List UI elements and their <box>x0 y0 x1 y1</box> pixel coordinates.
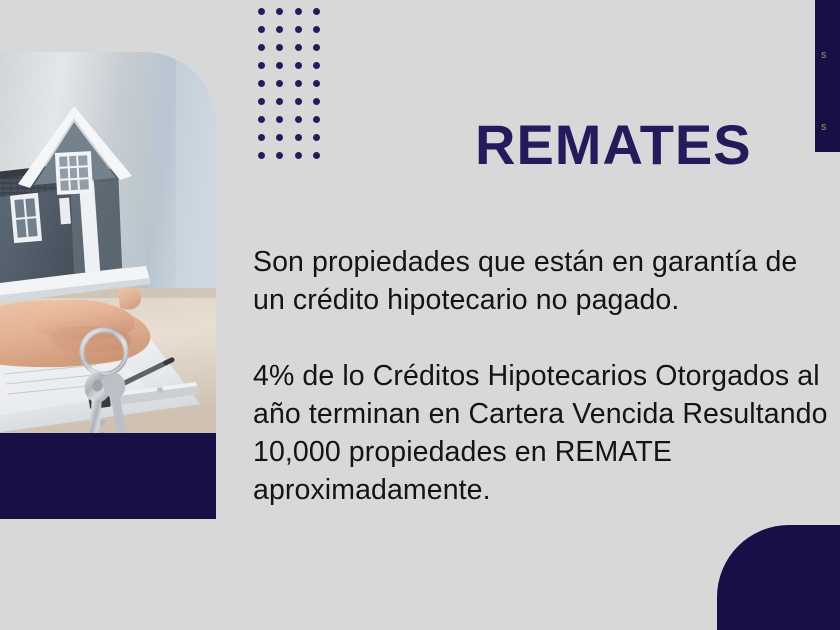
paragraph-line: 10,000 propiedades en REMATE <box>253 433 840 471</box>
paragraph-line: aproximadamente. <box>253 471 840 509</box>
paragraph-line: Son propiedades que están en garantía de <box>253 243 840 281</box>
body-text-block: Son propiedades que están en garantía de… <box>253 243 840 509</box>
navy-bar-left <box>0 433 216 519</box>
photo-artwork <box>0 52 216 433</box>
paragraph-line: 4% de lo Créditos Hipotecarios Otorgados… <box>253 357 840 395</box>
paragraph-line: año terminan en Cartera Vencida Resultan… <box>253 395 840 433</box>
page-title: REMATES <box>475 117 752 173</box>
house-in-hand-photo <box>0 52 216 433</box>
definition-paragraph: Son propiedades que están en garantía de… <box>253 243 840 319</box>
paragraph-line: un crédito hipotecario no pagado. <box>253 281 840 319</box>
slide-canvas: s s REMATES Son propiedades que están en… <box>0 0 840 630</box>
statistic-paragraph: 4% de lo Créditos Hipotecarios Otorgados… <box>253 357 840 509</box>
